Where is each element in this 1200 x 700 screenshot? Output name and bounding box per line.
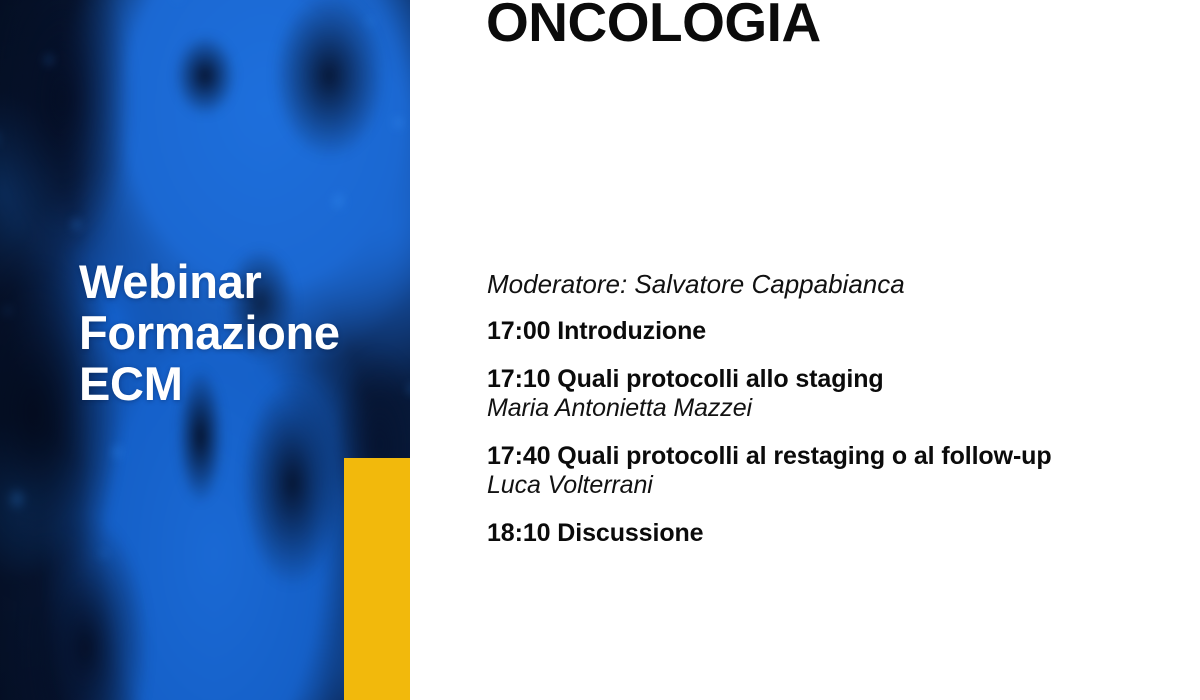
program-item-title: 17:40 Quali protocolli al restaging o al… xyxy=(487,442,1087,471)
page-title: ONCOLOGIA xyxy=(486,0,821,53)
program-list: Moderatore: Salvatore Cappabianca 17:00 … xyxy=(487,268,1087,548)
headline-line-2: Formazione xyxy=(79,307,389,358)
program-item-speaker: Luca Volterrani xyxy=(487,471,1087,500)
program-item-title: 18:10 Discussione xyxy=(487,519,1087,548)
webinar-headline: Webinar Formazione ECM xyxy=(79,256,389,409)
date-time-band-inner: BRE 17:00 xyxy=(344,458,410,700)
headline-line-3: ECM xyxy=(79,358,389,409)
date-time-band: BRE 17:00 xyxy=(344,458,410,700)
program-item: 18:10 Discussione xyxy=(487,519,1087,548)
moderator-line: Moderatore: Salvatore Cappabianca xyxy=(487,268,1087,300)
program-item: 17:40 Quali protocolli al restaging o al… xyxy=(487,442,1087,500)
program-item-speaker: Maria Antonietta Mazzei xyxy=(487,394,1087,423)
program-item-title: 17:10 Quali protocolli allo staging xyxy=(487,365,1087,394)
program-item-title: 17:00 Introduzione xyxy=(487,317,1087,346)
program-item: 17:10 Quali protocolli allo staging Mari… xyxy=(487,365,1087,423)
headline-line-1: Webinar xyxy=(79,256,389,307)
program-item: 17:00 Introduzione xyxy=(487,317,1087,346)
webinar-slide: Webinar Formazione ECM BRE 17:00 ONCOLOG… xyxy=(0,0,1200,700)
